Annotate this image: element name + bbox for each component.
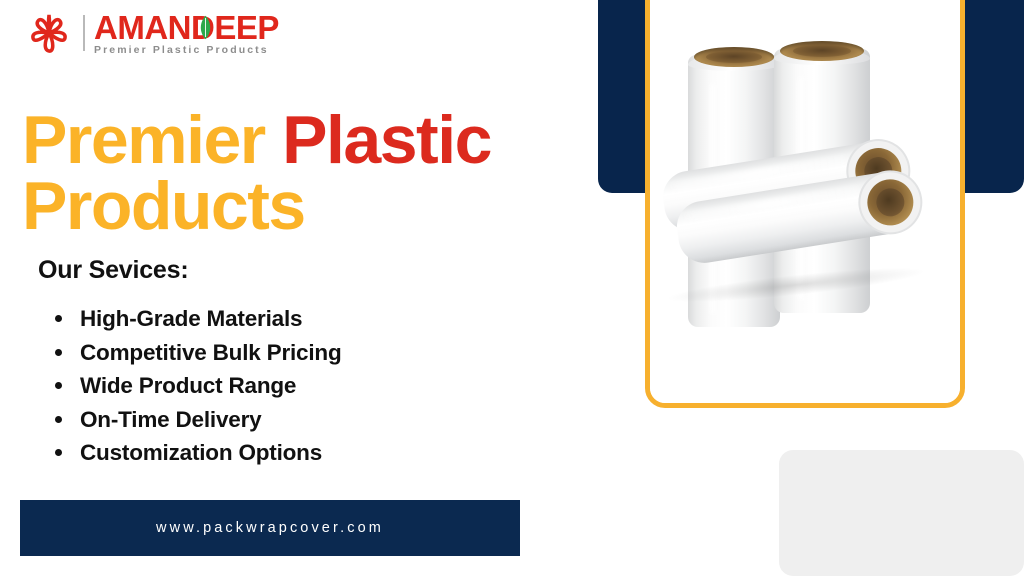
page-title: Premier Plastic Products [22, 108, 582, 240]
roll-core-opening [864, 176, 917, 229]
grey-decor-block [779, 450, 1024, 576]
logo-name-part3: EEP [214, 11, 279, 44]
list-item-label: On-Time Delivery [80, 407, 261, 432]
list-item-label: High-Grade Materials [80, 306, 302, 331]
headline-part1: Premier [22, 102, 282, 178]
bullet-icon [55, 349, 62, 356]
bullet-icon [55, 449, 62, 456]
list-item: High-Grade Materials [55, 302, 342, 336]
list-item: Competitive Bulk Pricing [55, 336, 342, 370]
logo-name-part1: AMAN [94, 11, 191, 44]
headline-part2: Plastic [282, 102, 491, 178]
logo-tagline: Premier Plastic Products [94, 45, 279, 56]
headline-part3: Products [22, 168, 305, 244]
brand-logo[interactable]: AMANDEEP Premier Plastic Products [24, 8, 279, 58]
services-heading: Our Sevices: [38, 256, 188, 285]
product-photo [650, 0, 960, 403]
website-url-text: www.packwrapcover.com [156, 520, 384, 536]
list-item-label: Wide Product Range [80, 373, 296, 398]
list-item-label: Competitive Bulk Pricing [80, 340, 342, 365]
leaf-icon [198, 15, 213, 40]
bullet-icon [55, 315, 62, 322]
list-item: On-Time Delivery [55, 403, 342, 437]
bullet-icon [55, 382, 62, 389]
roll-cardboard-core [694, 47, 775, 67]
services-list: High-Grade Materials Competitive Bulk Pr… [55, 302, 342, 470]
flower-icon [24, 8, 74, 58]
logo-wordmark: AMANDEEP Premier Plastic Products [94, 11, 279, 56]
product-photo-frame [645, 0, 965, 408]
logo-divider [83, 15, 85, 51]
website-url-bar[interactable]: www.packwrapcover.com [20, 500, 520, 556]
flower-center [46, 30, 52, 36]
list-item: Wide Product Range [55, 369, 342, 403]
marketing-banner: AMANDEEP Premier Plastic Products Premie… [0, 0, 1024, 576]
roll-cardboard-core [780, 41, 865, 61]
logo-company-name: AMANDEEP [94, 11, 279, 44]
list-item-label: Customization Options [80, 440, 322, 465]
logo-name-part2: D [191, 11, 214, 44]
list-item: Customization Options [55, 436, 342, 470]
bullet-icon [55, 416, 62, 423]
